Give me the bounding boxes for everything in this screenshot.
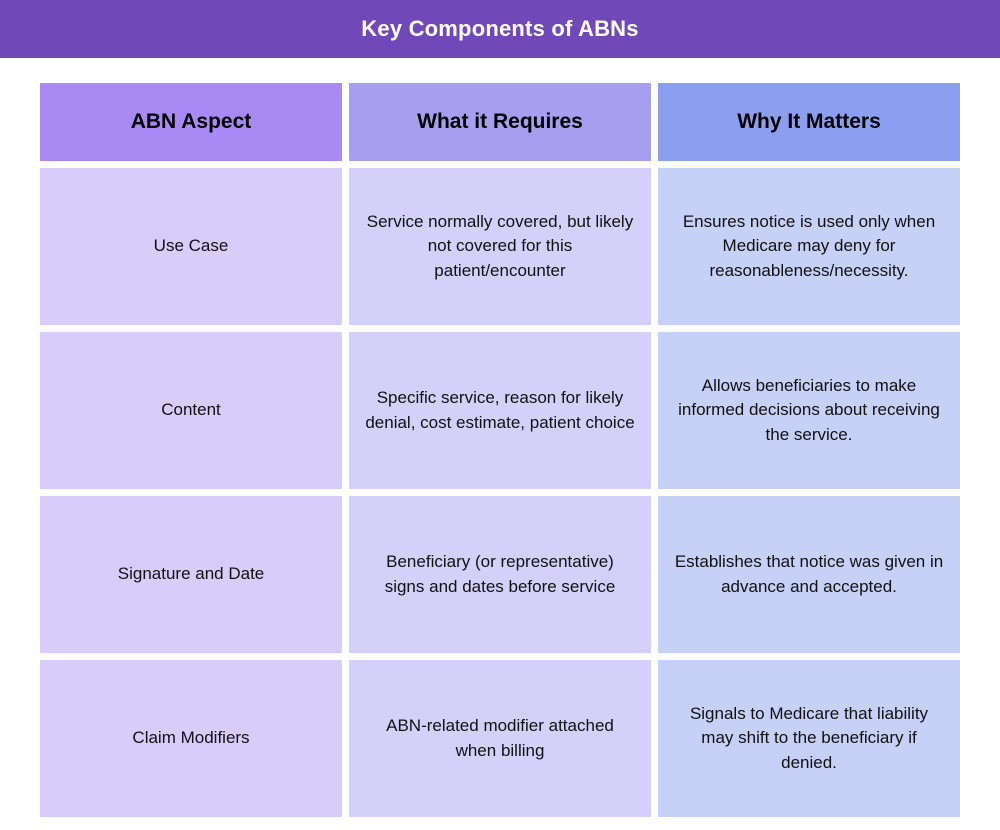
comparison-table: ABN Aspect What it Requires Why It Matte… — [40, 83, 960, 817]
table-row-1-aspect-cell: Use Case — [40, 168, 342, 325]
cell-text: Signals to Medicare that liability may s… — [674, 702, 944, 776]
table-row-4-aspect-cell: Claim Modifiers — [40, 660, 342, 817]
cell-text: Specific service, reason for likely deni… — [365, 386, 635, 435]
table-row-2-matters-cell: Allows beneficiaries to make informed de… — [658, 332, 960, 489]
cell-text: Beneficiary (or representative) signs an… — [365, 550, 635, 599]
cell-text: Allows beneficiaries to make informed de… — [674, 374, 944, 448]
cell-text: Establishes that notice was given in adv… — [674, 550, 944, 599]
cell-text: ABN-related modifier attached when billi… — [365, 714, 635, 763]
table-row-1-matters-cell: Ensures notice is used only when Medicar… — [658, 168, 960, 325]
table-row-3-requires-cell: Beneficiary (or representative) signs an… — [349, 496, 651, 653]
cell-text: Service normally covered, but likely not… — [365, 210, 635, 284]
cell-text: Signature and Date — [118, 562, 265, 587]
table-row-3-matters-cell: Establishes that notice was given in adv… — [658, 496, 960, 653]
column-header-label: What it Requires — [417, 110, 583, 134]
table-row-2-requires-cell: Specific service, reason for likely deni… — [349, 332, 651, 489]
cell-text: Ensures notice is used only when Medicar… — [674, 210, 944, 284]
column-header-label: ABN Aspect — [131, 110, 252, 134]
table-row-3-aspect-cell: Signature and Date — [40, 496, 342, 653]
column-header-why-it-matters: Why It Matters — [658, 83, 960, 161]
infographic-root: Key Components of ABNs ABN Aspect What i… — [0, 0, 1000, 830]
cell-text: Content — [161, 398, 221, 423]
title-bar: Key Components of ABNs — [0, 0, 1000, 58]
table-row-2-aspect-cell: Content — [40, 332, 342, 489]
cell-text: Use Case — [154, 234, 229, 259]
column-header-label: Why It Matters — [737, 110, 881, 134]
column-header-what-it-requires: What it Requires — [349, 83, 651, 161]
column-header-abn-aspect: ABN Aspect — [40, 83, 342, 161]
table-row-4-matters-cell: Signals to Medicare that liability may s… — [658, 660, 960, 817]
table-row-4-requires-cell: ABN-related modifier attached when billi… — [349, 660, 651, 817]
cell-text: Claim Modifiers — [132, 726, 249, 751]
table-row-1-requires-cell: Service normally covered, but likely not… — [349, 168, 651, 325]
page-title: Key Components of ABNs — [361, 18, 638, 40]
